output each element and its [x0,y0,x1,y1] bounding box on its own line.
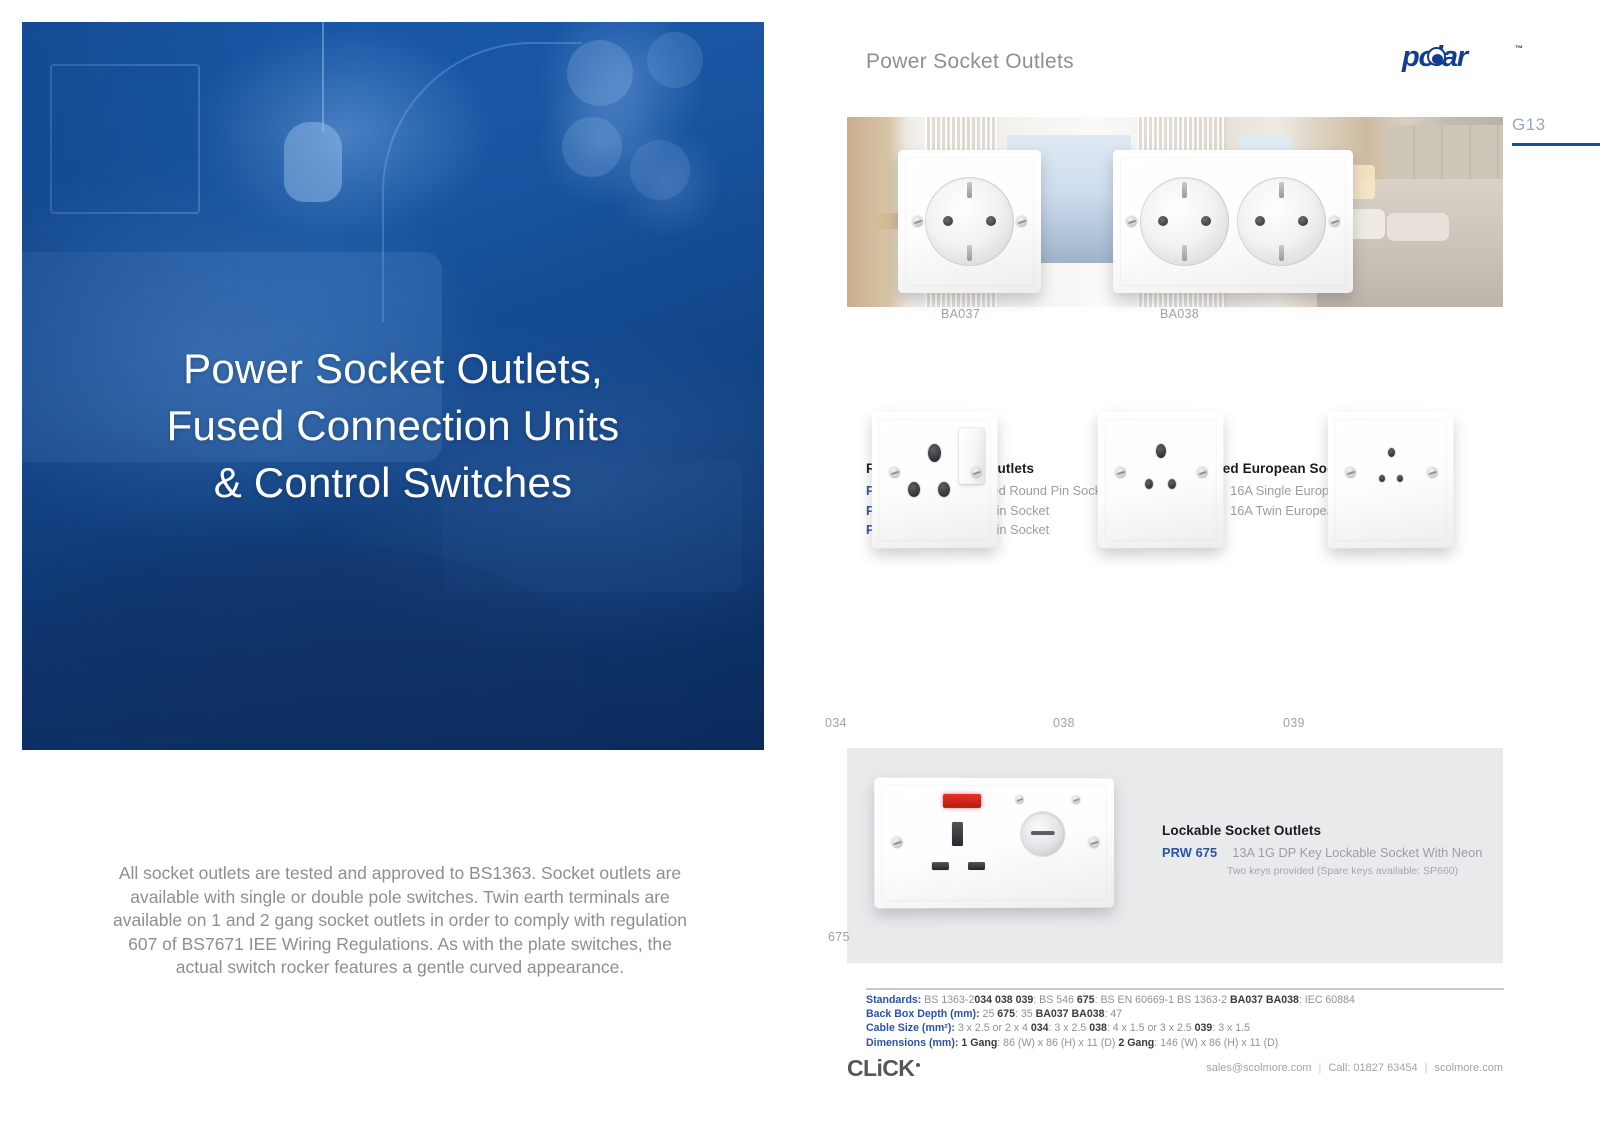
caption-039: 039 [1283,716,1305,730]
intro-paragraph: All socket outlets are tested and approv… [105,862,695,980]
product-image-ba037 [898,150,1041,293]
uk-neutral-slot [968,862,985,870]
accessory-screw-top2 [1072,795,1081,804]
uk-live-slot [932,862,949,870]
spec-row-standards: Standards: BS 1363-2034 038 039: BS 546 … [866,993,1526,1007]
uk-earth-slot [952,822,963,846]
fixing-screw-left [1115,467,1126,478]
fixing-screw-right [1329,216,1340,227]
live-pin-hole [1379,475,1385,482]
decor-rug [22,542,582,742]
page-title: Power Socket Outlets [866,50,1074,74]
key-slot [1031,831,1055,835]
euro-earth-clip-bottom [967,245,972,261]
euro-neutral-hole [986,216,996,226]
spec-row-backbox: Back Box Depth (mm): 25 675: 35 BA037 BA… [866,1007,1526,1021]
decor-wall-disc [562,117,622,177]
spec-value: 25 675: 35 BA037 BA038: 47 [980,1008,1123,1020]
euro-neutral-hole [1298,216,1308,226]
caption-ba038: BA038 [1160,307,1199,321]
polar-bear-icon [1427,47,1446,66]
euro-live-hole [1255,216,1265,226]
polar-bear-body [1432,54,1443,64]
fixing-screw-right [1427,467,1438,478]
euro-earth-clip-top [1182,182,1187,198]
registered-dot-icon [916,1063,920,1067]
earth-pin-hole [928,444,941,462]
page-tab-rule [1512,143,1600,146]
product-description: 13A 1G DP Key Lockable Socket With Neon [1232,845,1482,860]
euro-live-hole [943,216,953,226]
footer-email[interactable]: sales@scolmore.com [1206,1062,1311,1074]
product-code: PRW 675 [1162,845,1217,860]
hero-title-line-3: & Control Switches [22,454,764,511]
product-image-038 [1098,412,1224,549]
fixing-screw-left [1345,467,1356,478]
decor-wall-disc [647,32,703,88]
spec-value: BS 1363-2034 038 039: BS 546 675: BS EN … [921,994,1355,1006]
socket-plate-inner [1105,419,1217,542]
spec-label: Standards: [866,994,921,1006]
spec-label: Dimensions (mm): [866,1037,958,1049]
caption-038: 038 [1053,716,1075,730]
decor-wall-disc [567,40,633,106]
hero-title-line-1: Power Socket Outlets, [22,340,764,397]
polar-logo: polar ™ [1402,41,1522,75]
decor-pillow [1387,213,1449,241]
product-list-lockable: PRW 675 13A 1G DP Key Lockable Socket Wi… [1162,845,1482,877]
euro-earth-clip-top [967,182,972,198]
decor-pendant-lamp [284,122,342,202]
product-image-675 [874,778,1114,909]
product-image-039 [1328,412,1454,549]
spec-divider [866,988,1504,990]
live-pin-hole [1145,479,1153,489]
click-wordmark: CLiCK [847,1055,914,1081]
right-page: Power Socket Outlets polar ™ G13 [800,0,1600,1135]
fixing-screw-right [1016,216,1027,227]
socket-plate-inner [1335,419,1447,542]
decor-arc-lamp [382,42,582,322]
euro-earth-clip-top [1279,182,1284,198]
footer-website[interactable]: scolmore.com [1435,1062,1503,1074]
click-logo: CLiCK [847,1055,920,1082]
spec-label: Cable Size (mm²): [866,1022,955,1034]
fixing-screw-left [912,216,923,227]
hero-image-panel: Power Socket Outlets, Fused Connection U… [22,22,764,750]
live-pin-hole [908,482,920,497]
neutral-pin-hole [938,482,950,497]
fixing-screw-left [889,467,900,478]
decor-wall-frame [50,64,200,214]
neon-indicator [943,794,981,808]
spec-block: Standards: BS 1363-2034 038 039: BS 546 … [866,993,1526,1050]
earth-pin-hole [1156,444,1166,458]
euro-neutral-hole [1201,216,1211,226]
spec-row-cable: Cable Size (mm²): 3 x 2.5 or 2 x 4 034: … [866,1021,1526,1035]
fixing-screw-right [1088,837,1099,848]
footer-contact: sales@scolmore.com|Call: 01827 63454|sco… [1206,1062,1503,1074]
neutral-pin-hole [1168,479,1176,489]
key-lock-barrel[interactable] [1021,812,1065,856]
group-heading-lockable: Lockable Socket Outlets [1162,823,1321,838]
fixing-screw-left [892,837,903,848]
euro-socket-recess [925,177,1014,266]
neutral-pin-hole [1397,475,1403,482]
caption-034: 034 [825,716,847,730]
fixing-screw-right [971,467,982,478]
earth-pin-hole [1388,448,1395,457]
spec-value: 3 x 2.5 or 2 x 4 034: 3 x 2.5 038: 4 x 1… [955,1022,1250,1034]
euro-earth-clip-bottom [1182,245,1187,261]
product-image-034 [872,412,998,549]
fixing-screw-left [1126,216,1137,227]
accessory-screw-top [1015,795,1024,804]
footer-separator: | [1425,1062,1428,1074]
footer-phone: Call: 01827 63454 [1328,1062,1417,1074]
caption-675: 675 [828,930,850,944]
spec-label: Back Box Depth (mm): [866,1008,980,1020]
footer-separator: | [1319,1062,1322,1074]
product-image-ba038 [1113,150,1353,293]
trademark-symbol: ™ [1515,44,1523,53]
fixing-screw-right [1197,467,1208,478]
hero-title-line-2: Fused Connection Units [22,397,764,454]
decor-wall-disc [630,140,690,200]
euro-live-hole [1158,216,1168,226]
euro-socket-recess-right [1237,177,1326,266]
page-number: G13 [1512,115,1600,135]
spec-row-dimensions: Dimensions (mm): 1 Gang: 86 (W) x 86 (H)… [866,1036,1526,1050]
product-note: Two keys provided (Spare keys available:… [1227,865,1482,877]
euro-socket-recess-left [1140,177,1229,266]
page-tab: G13 [1512,115,1600,146]
euro-earth-clip-bottom [1279,245,1284,261]
hero-title: Power Socket Outlets, Fused Connection U… [22,340,764,511]
product-row[interactable]: PRW 675 13A 1G DP Key Lockable Socket Wi… [1162,845,1482,860]
decor-lamp-cord [322,22,324,132]
left-page: Power Socket Outlets, Fused Connection U… [0,0,800,1135]
spec-value: 1 Gang: 86 (W) x 86 (H) x 11 (D) 2 Gang:… [958,1037,1278,1049]
caption-ba037: BA037 [941,307,980,321]
